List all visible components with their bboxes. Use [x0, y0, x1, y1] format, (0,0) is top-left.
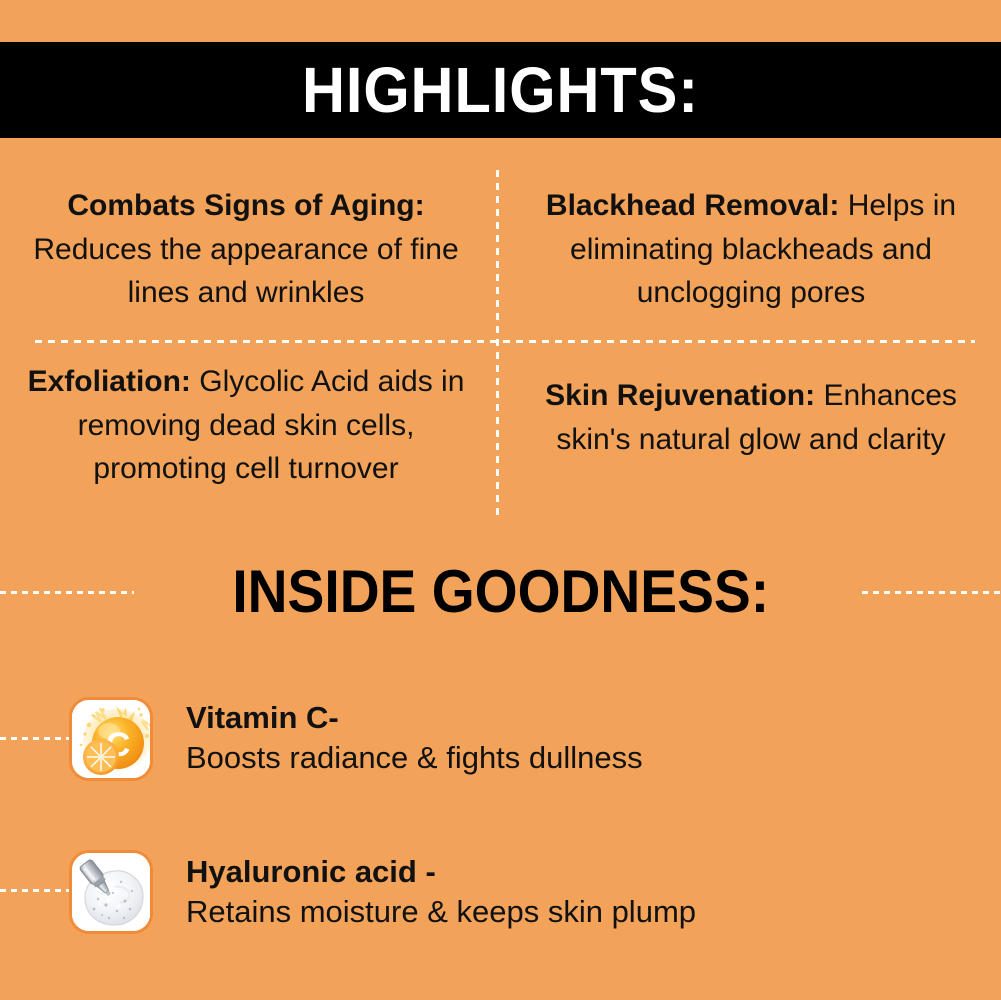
hyaluronic-acid-dropper-icon	[69, 850, 153, 934]
grid-vertical-divider	[496, 170, 499, 520]
hyaluronic-acid-dropper-icon-svg	[72, 853, 153, 934]
ingredient-text-vitamin-c: Vitamin C- Boosts radiance & fights dull…	[186, 698, 643, 779]
inside-goodness-heading: INSIDE GOODNESS:	[0, 552, 1001, 632]
highlight-item-skin-rejuvenation: Skin Rejuvenation: Enhances skin's natur…	[505, 374, 997, 461]
product-highlights-infographic: HIGHLIGHTS: Combats Signs of Aging: Redu…	[0, 0, 1001, 1000]
highlight-label: Skin Rejuvenation:	[545, 379, 815, 412]
vitamin-c-orange-icon: C	[69, 697, 153, 781]
ingredient-description: Retains moisture & keeps skin plump	[186, 892, 696, 932]
highlight-description: Reduces the appearance of fine lines and…	[33, 233, 458, 310]
ingredient-lead-line	[0, 889, 78, 892]
ingredient-name: Vitamin C-	[186, 698, 643, 738]
highlights-banner: HIGHLIGHTS:	[0, 42, 1001, 138]
vitamin-c-orange-icon-svg: C	[72, 700, 153, 781]
ingredient-description: Boosts radiance & fights dullness	[186, 738, 643, 778]
highlight-item-combats-signs-of-aging: Combats Signs of Aging: Reduces the appe…	[0, 184, 492, 315]
inside-goodness-title: INSIDE GOODNESS:	[232, 562, 769, 622]
highlight-label: Exfoliation:	[28, 365, 191, 398]
highlight-label: Blackhead Removal:	[546, 189, 839, 222]
ingredient-text-hyaluronic-acid: Hyaluronic acid - Retains moisture & kee…	[186, 852, 696, 933]
ingredient-name: Hyaluronic acid -	[186, 852, 696, 892]
grid-horizontal-divider	[35, 340, 975, 343]
highlights-grid: Combats Signs of Aging: Reduces the appe…	[0, 170, 1001, 520]
highlight-label: Combats Signs of Aging:	[67, 189, 424, 222]
highlights-banner-title: HIGHLIGHTS:	[302, 58, 699, 122]
highlight-item-blackhead-removal: Blackhead Removal: Helps in eliminating …	[505, 184, 997, 315]
highlight-item-exfoliation: Exfoliation: Glycolic Acid aids in remov…	[0, 360, 492, 491]
ingredient-lead-line	[0, 737, 78, 740]
